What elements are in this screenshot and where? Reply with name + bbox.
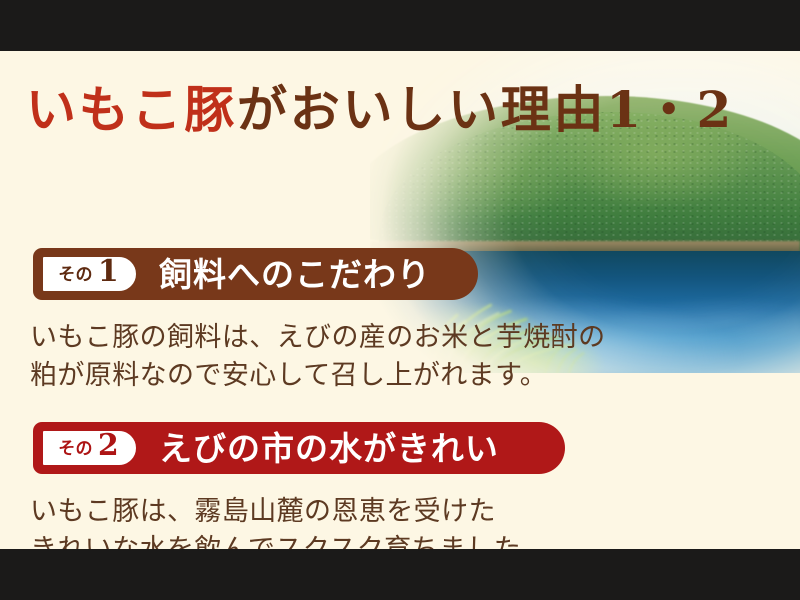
section-body-2: いもこ豚は、霧島山麓の恩恵を受けた きれいな水を飲んでスクスク育ちました。 <box>30 493 549 549</box>
body-line: いもこ豚は、霧島山麓の恩恵を受けた <box>30 493 549 531</box>
headline-rest: がおいしい理由1・2 <box>237 80 734 139</box>
section-banner-2: その 2 えびの市の水がきれい <box>33 422 565 474</box>
section-tag-number-1: 1 <box>98 257 119 287</box>
headline-highlight: いもこ豚 <box>26 80 237 139</box>
body-line: 粕が原料なので安心して召し上がれます。 <box>30 357 606 395</box>
section-tag-number-2: 2 <box>98 431 119 461</box>
section-body-1: いもこ豚の飼料は、えびの産のお米と芋焼酎の 粕が原料なので安心して召し上がれます… <box>30 319 606 396</box>
section-tag-prefix-2: その <box>58 434 93 459</box>
body-line: いもこ豚の飼料は、えびの産のお米と芋焼酎の <box>30 319 606 357</box>
section-tag-1: その 1 <box>42 256 137 292</box>
section-title-2: えびの市の水がきれい <box>159 432 499 465</box>
body-line: きれいな水を飲んでスクスク育ちました。 <box>30 531 549 549</box>
section-title-1: 飼料へのこだわり <box>159 258 431 291</box>
section-tag-2: その 2 <box>42 430 137 466</box>
slide-stage: いもこ豚がおいしい理由1・2 その 1 飼料へのこだわり いもこ豚の飼料は、えび… <box>0 0 800 600</box>
section-banner-1: その 1 飼料へのこだわり <box>33 248 478 300</box>
section-tag-prefix-1: その <box>58 260 93 285</box>
page-title: いもこ豚がおいしい理由1・2 <box>26 85 782 135</box>
content-canvas: いもこ豚がおいしい理由1・2 その 1 飼料へのこだわり いもこ豚の飼料は、えび… <box>0 51 800 549</box>
letterbox-top <box>0 0 800 51</box>
letterbox-bottom <box>0 549 800 600</box>
